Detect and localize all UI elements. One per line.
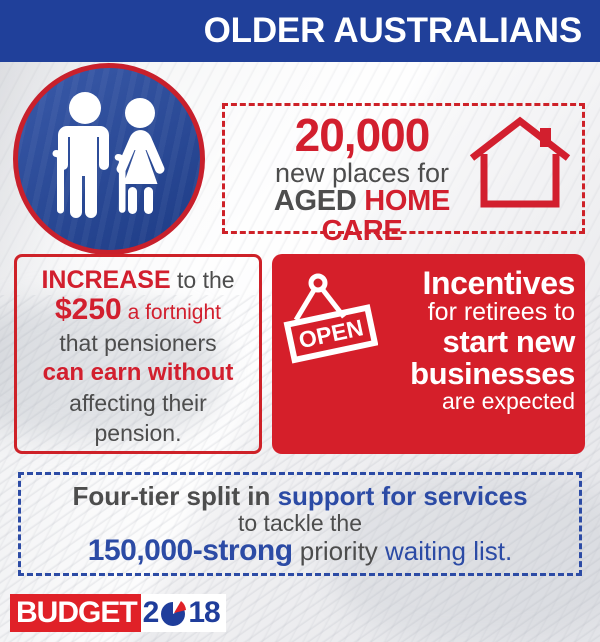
logo-year: 2 18	[141, 594, 226, 632]
increase-line-3: that pensioners	[17, 328, 259, 358]
header-banner: OLDER AUSTRALIANS	[0, 0, 600, 62]
open-sign-icon: OPEN	[282, 272, 378, 364]
split-line-1-blue: support for services	[278, 481, 528, 511]
incentives-line-4: businesses	[376, 358, 575, 390]
split-waiting-list: waiting list.	[385, 536, 512, 566]
increase-line-2: $250 a fortnight	[17, 295, 259, 328]
logo-year-prefix: 2	[143, 598, 159, 628]
incentives-line-3: start new	[376, 326, 575, 358]
split-line-3-mid: priority	[293, 536, 385, 566]
split-line-1-grey: Four-tier split in	[72, 481, 277, 511]
split-line-2: to tackle the	[25, 511, 575, 535]
increase-period: a fortnight	[122, 301, 221, 324]
increase-line-1-rest: to the	[171, 267, 235, 293]
split-line-1: Four-tier split in support for services	[25, 483, 575, 511]
page-title: OLDER AUSTRALIANS	[204, 10, 582, 52]
increase-amount: $250	[55, 293, 122, 326]
increase-line-5: affecting their	[17, 388, 259, 418]
home-care-text: 20,000 new places for AGED HOME CARE	[231, 112, 493, 247]
card-aged-home-care: 20,000 new places for AGED HOME CARE	[222, 103, 585, 234]
increase-keyword: INCREASE	[41, 266, 170, 294]
increase-line-1: INCREASE to the	[17, 265, 259, 295]
budget-2018-logo: BUDGET 2 18	[10, 594, 226, 632]
home-care-subline: new places for	[231, 160, 493, 188]
card-retiree-incentives: OPEN Incentives for retirees to start ne…	[272, 254, 585, 454]
infographic-root: OLDER AUSTRALIANS 20,000 n	[0, 0, 600, 642]
logo-year-suffix: 18	[188, 598, 219, 628]
card-pension-increase: INCREASE to the $250 a fortnight that pe…	[14, 254, 262, 454]
incentives-line-1: Incentives	[376, 267, 575, 300]
logo-word: BUDGET	[10, 594, 141, 632]
home-care-number: 20,000	[231, 112, 493, 159]
card-four-tier-split: Four-tier split in support for services …	[18, 472, 582, 576]
home-care-caption-grey: AGED	[274, 185, 357, 217]
split-line-3: 150,000-strong priority waiting list.	[25, 535, 575, 567]
elderly-couple-badge	[13, 63, 205, 255]
increase-text: INCREASE to the $250 a fortnight that pe…	[17, 265, 259, 448]
home-care-caption: AGED HOME CARE	[231, 187, 493, 246]
increase-line-4: can earn without	[17, 358, 259, 388]
elderly-couple-icon	[18, 68, 200, 250]
pie-chart-zero-icon	[159, 599, 187, 627]
increase-line-6: pension.	[17, 418, 259, 448]
house-icon	[466, 114, 574, 212]
incentives-line-2: for retirees to	[376, 300, 575, 326]
incentives-line-5: are expected	[376, 390, 575, 414]
split-text: Four-tier split in support for services …	[25, 483, 575, 567]
incentives-text: Incentives for retirees to start new bus…	[376, 267, 575, 413]
split-number: 150,000-strong	[88, 534, 293, 567]
